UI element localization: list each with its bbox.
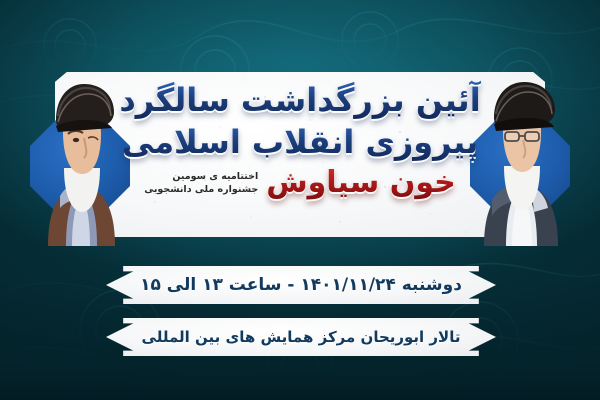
title-block: آئین بزرگداشت سالگرد پیروزی انقلاب اسلام… — [118, 78, 482, 230]
event-poster: آئین بزرگداشت سالگرد پیروزی انقلاب اسلام… — [0, 0, 600, 400]
event-venue-text: تالار ابوریحان مرکز همایش های بین المللی — [142, 328, 461, 346]
event-date-text: دوشنبه ۱۴۰۱/۱۱/۲۴ - ساعت ۱۳ الی ۱۵ — [140, 275, 462, 295]
festival-highlight-title: خون سیاوش — [266, 166, 456, 200]
title-line-2: پیروزی انقلاب اسلامی — [122, 122, 478, 162]
ribbon-event-date: دوشنبه ۱۴۰۱/۱۱/۲۴ - ساعت ۱۳ الی ۱۵ — [106, 266, 496, 304]
festival-subtitle: اختتامیه ی سومین جشنواره ملی دانشجویی — [144, 170, 258, 196]
title-row-3: خون سیاوش اختتامیه ی سومین جشنواره ملی د… — [118, 166, 482, 200]
festival-subtitle-line-1: اختتامیه ی سومین — [172, 170, 258, 183]
title-line-1: آئین بزرگداشت سالگرد — [119, 80, 480, 120]
ribbon-event-venue: تالار ابوریحان مرکز همایش های بین المللی — [106, 318, 496, 356]
festival-subtitle-line-2: جشنواره ملی دانشجویی — [144, 183, 258, 196]
